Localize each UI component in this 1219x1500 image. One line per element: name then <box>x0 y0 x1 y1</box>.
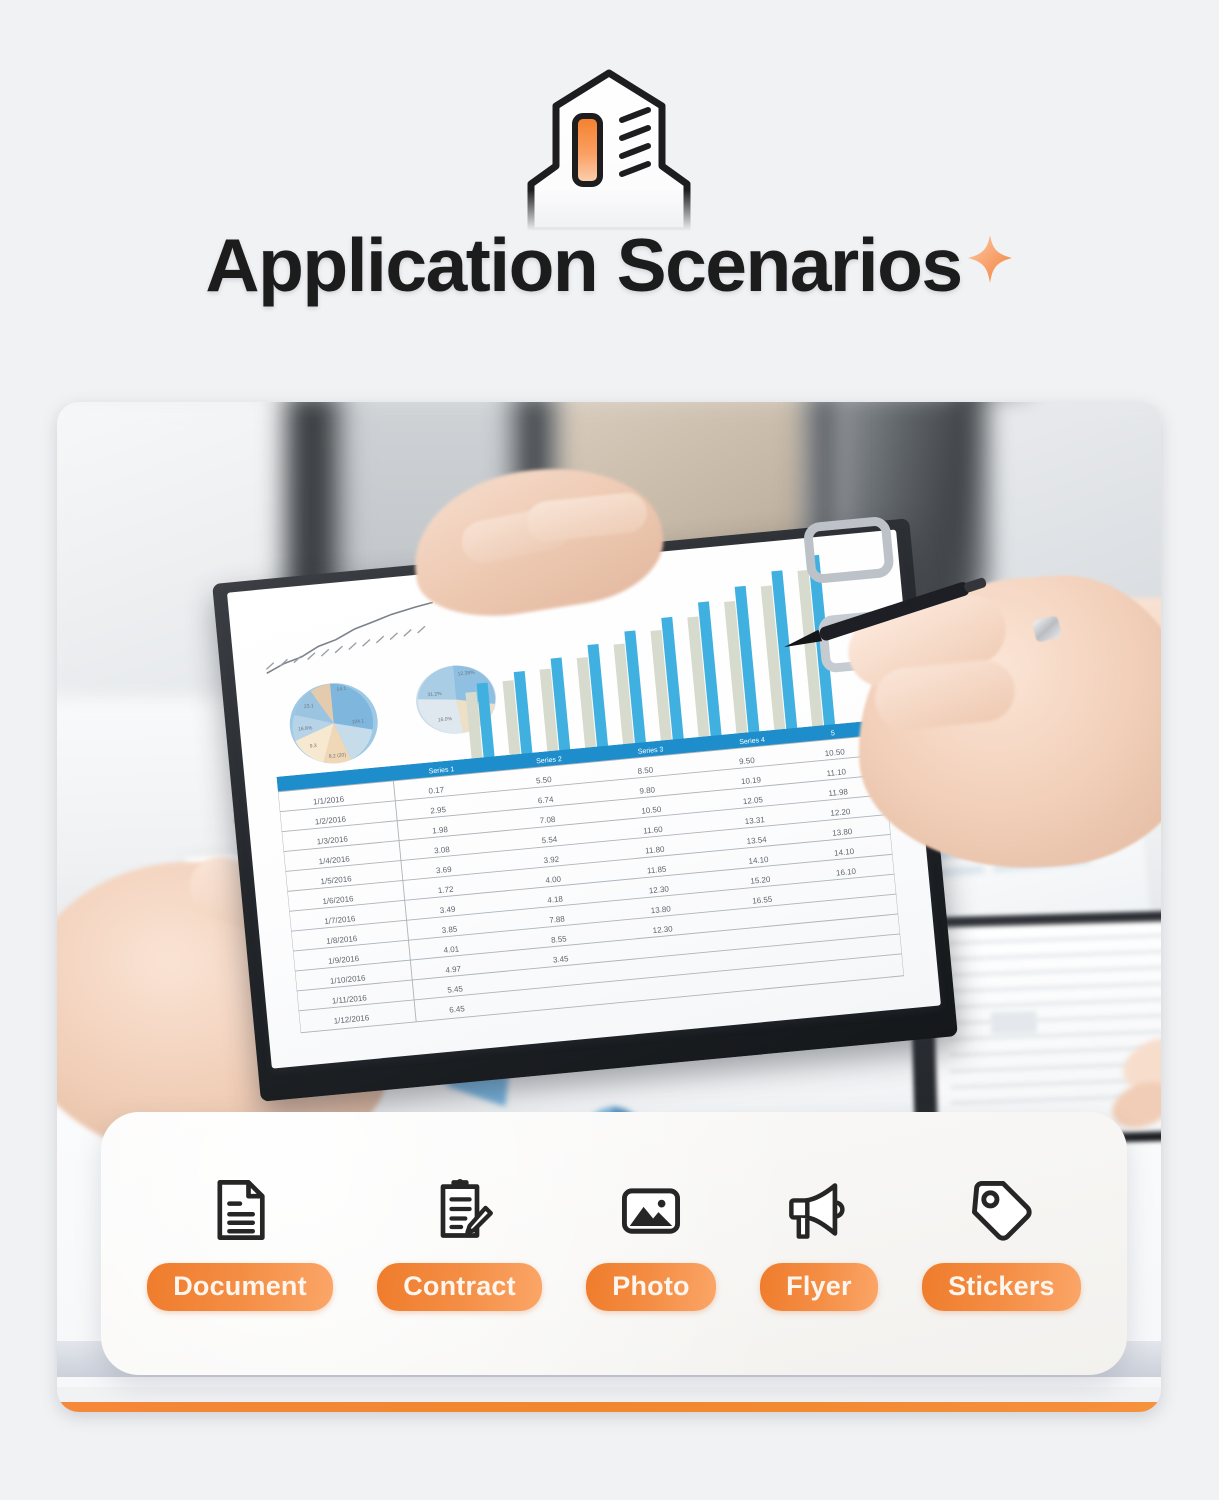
svg-text:3.49: 3.49 <box>439 905 456 915</box>
chip-stickers[interactable]: Stickers <box>922 1176 1081 1311</box>
chip-label-stickers: Stickers <box>922 1263 1081 1311</box>
svg-text:11.60: 11.60 <box>643 825 664 836</box>
page-title: Application Scenarios <box>205 228 961 303</box>
svg-text:11.85: 11.85 <box>647 865 668 876</box>
main-clipboard: 14.1104.1 23.116.8% 9.38.2 (20) 12.38%31… <box>212 518 958 1102</box>
svg-text:13.31: 13.31 <box>744 815 765 826</box>
scenario-chips-card: Document Contract <box>101 1112 1127 1375</box>
chip-label-flyer: Flyer <box>760 1263 878 1311</box>
report-pie-chart-1: 14.1104.1 23.116.8% 9.38.2 (20) <box>282 675 386 772</box>
svg-text:1/5/2016: 1/5/2016 <box>320 874 352 886</box>
svg-text:15.20: 15.20 <box>750 875 771 886</box>
scenario-chips-row: Document Contract <box>101 1112 1127 1375</box>
svg-text:6.45: 6.45 <box>449 1004 466 1014</box>
svg-text:9.50: 9.50 <box>739 756 756 766</box>
svg-text:1/3/2016: 1/3/2016 <box>316 834 348 846</box>
chip-flyer[interactable]: Flyer <box>760 1176 878 1311</box>
svg-text:16.10: 16.10 <box>836 867 857 878</box>
report-trend-line-chart <box>257 599 442 678</box>
svg-text:10.50: 10.50 <box>641 805 662 816</box>
svg-text:14.1: 14.1 <box>336 686 346 693</box>
svg-text:4.97: 4.97 <box>445 964 462 974</box>
svg-text:3.08: 3.08 <box>434 845 451 855</box>
svg-text:8.50: 8.50 <box>637 765 654 775</box>
svg-text:1/11/2016: 1/11/2016 <box>331 993 367 1005</box>
svg-text:104.1: 104.1 <box>351 718 364 725</box>
svg-text:12.05: 12.05 <box>742 795 763 806</box>
panel-orange-accent-strip <box>57 1402 1161 1412</box>
svg-text:2.95: 2.95 <box>430 805 447 815</box>
svg-text:6.74: 6.74 <box>538 795 555 805</box>
svg-text:10.50: 10.50 <box>824 747 845 758</box>
page-header: Application Scenarios <box>0 0 1219 402</box>
title-row: Application Scenarios <box>0 228 1219 303</box>
svg-text:13.80: 13.80 <box>650 904 671 915</box>
svg-text:4.01: 4.01 <box>443 944 460 954</box>
chip-contract[interactable]: Contract <box>377 1176 542 1311</box>
svg-text:1/9/2016: 1/9/2016 <box>328 954 360 966</box>
megaphone-icon <box>785 1176 853 1244</box>
logo-wrap <box>0 66 1219 231</box>
chip-photo[interactable]: Photo <box>586 1176 715 1311</box>
svg-text:1/4/2016: 1/4/2016 <box>318 854 350 866</box>
chip-label-photo: Photo <box>586 1263 715 1311</box>
chip-document[interactable]: Document <box>147 1176 333 1311</box>
svg-text:12.20: 12.20 <box>830 807 851 818</box>
sparkle-icon <box>966 234 1014 286</box>
svg-text:7.08: 7.08 <box>539 815 556 825</box>
svg-text:14.10: 14.10 <box>834 847 855 858</box>
svg-text:3.69: 3.69 <box>436 865 453 875</box>
svg-text:7.88: 7.88 <box>549 914 566 924</box>
svg-text:12.30: 12.30 <box>648 884 669 895</box>
svg-text:3.85: 3.85 <box>441 925 458 935</box>
svg-text:23.1: 23.1 <box>304 703 314 710</box>
svg-text:1/1/2016: 1/1/2016 <box>313 795 345 807</box>
svg-text:5.54: 5.54 <box>541 835 558 845</box>
svg-text:5.50: 5.50 <box>536 775 553 785</box>
svg-text:1/8/2016: 1/8/2016 <box>326 934 358 946</box>
document-page-icon <box>206 1176 274 1244</box>
chip-label-document: Document <box>147 1263 333 1311</box>
image-picture-icon <box>617 1176 685 1244</box>
svg-text:1/7/2016: 1/7/2016 <box>324 914 356 926</box>
svg-text:1/6/2016: 1/6/2016 <box>322 894 354 906</box>
svg-text:4.18: 4.18 <box>547 894 564 904</box>
svg-text:8.55: 8.55 <box>551 934 568 944</box>
svg-text:11.10: 11.10 <box>826 767 847 778</box>
svg-text:12.30: 12.30 <box>652 924 673 935</box>
svg-text:16.55: 16.55 <box>752 895 773 906</box>
svg-text:1/2/2016: 1/2/2016 <box>315 815 347 827</box>
svg-text:13.80: 13.80 <box>832 827 853 838</box>
svg-text:1/12/2016: 1/12/2016 <box>333 1013 370 1025</box>
report-data-table: Series 1 Series 2 Series 3 Series 4 5 <box>277 720 905 1034</box>
svg-text:1.72: 1.72 <box>438 885 455 895</box>
price-tag-icon <box>967 1176 1035 1244</box>
svg-text:10.19: 10.19 <box>741 775 762 786</box>
svg-text:11.98: 11.98 <box>828 787 849 798</box>
clipboard-pencil-icon <box>426 1176 494 1244</box>
svg-text:5.45: 5.45 <box>447 984 464 994</box>
svg-text:9.3: 9.3 <box>310 743 318 750</box>
svg-text:1/10/2016: 1/10/2016 <box>330 973 367 985</box>
svg-text:4.00: 4.00 <box>545 875 562 885</box>
svg-text:3.45: 3.45 <box>553 954 570 964</box>
svg-text:11.80: 11.80 <box>645 845 666 856</box>
svg-text:13.54: 13.54 <box>746 835 767 846</box>
svg-text:3.92: 3.92 <box>543 855 560 865</box>
svg-text:14.10: 14.10 <box>748 855 769 866</box>
svg-text:5: 5 <box>831 730 836 737</box>
svg-text:1.98: 1.98 <box>432 825 449 835</box>
chip-label-contract: Contract <box>377 1263 542 1311</box>
svg-text:0.17: 0.17 <box>428 785 445 795</box>
building-skyscraper-icon <box>502 66 717 231</box>
svg-text:9.80: 9.80 <box>639 785 656 795</box>
